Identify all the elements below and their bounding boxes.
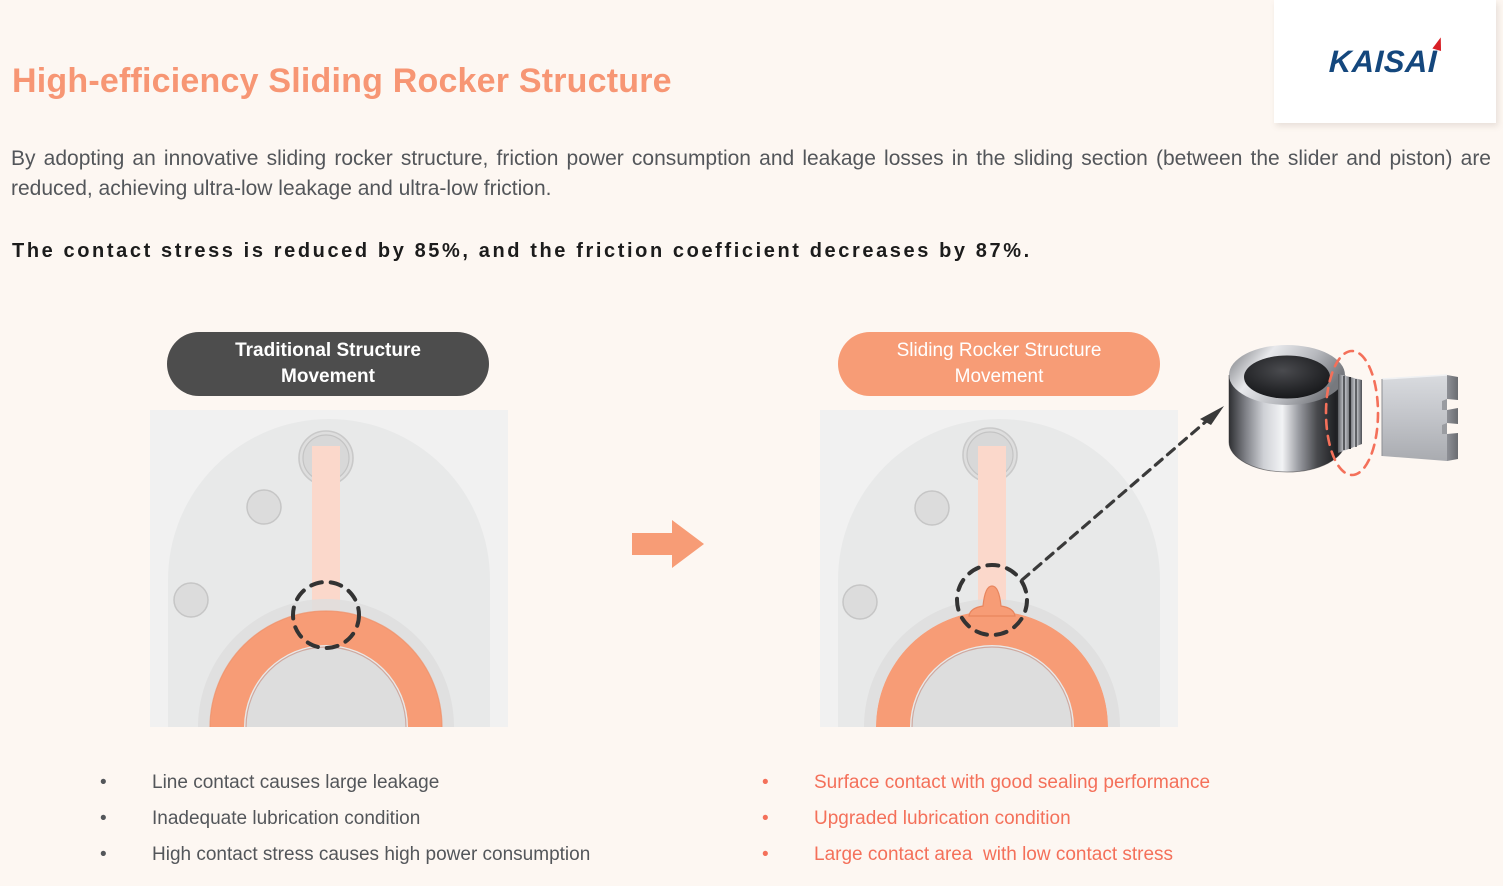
intro-paragraph: By adopting an innovative sliding rocker… [11,144,1491,204]
brand-logo: KAISAI [1274,0,1496,123]
bushing-cylinder [1229,345,1345,472]
bullet-marker-icon: • [762,837,814,873]
bullets-traditional: • Line contact causes large leakage • In… [100,765,700,873]
list-item-label: Upgraded lubrication condition [814,801,1071,837]
component-photo [1192,322,1498,510]
slide-root: KAISAI High-efficiency Sliding Rocker St… [0,0,1503,886]
label-sliding-rocker-structure-text: Sliding Rocker Structure Movement [897,338,1102,390]
bullet-marker-icon: • [100,765,152,801]
slider-plate [1382,375,1458,461]
list-item: • Line contact causes large leakage [100,765,700,801]
diagram-sliding-rocker-svg [820,410,1178,727]
list-item: • High contact stress causes high power … [100,837,700,873]
bullet-marker-icon: • [100,837,152,873]
slider-rod [312,446,340,612]
logo-accent-icon [1432,36,1444,51]
page-title: High-efficiency Sliding Rocker Structure [12,62,672,101]
highlight-statement: The contact stress is reduced by 85%, an… [12,240,1032,263]
bullet-marker-icon: • [762,765,814,801]
list-item: • Inadequate lubrication condition [100,801,700,837]
transition-arrow-icon [632,518,706,570]
list-item-label: Inadequate lubrication condition [152,801,420,837]
bullet-marker-icon: • [100,801,152,837]
list-item-label: High contact stress causes high power co… [152,837,590,873]
list-item-label: Large contact area with low contact stre… [814,837,1173,873]
diagram-traditional-svg [150,410,508,727]
logo-wordmark: KAISAI [1328,46,1437,77]
slider-rod [978,446,1006,606]
bullets-sliding-rocker: • Surface contact with good sealing perf… [762,765,1382,873]
list-item-label: Line contact causes large leakage [152,765,439,801]
diagram-sliding-rocker [820,410,1178,727]
label-traditional-structure-text: Traditional Structure Movement [235,338,421,390]
bullet-marker-icon: • [762,801,814,837]
label-sliding-rocker-structure: Sliding Rocker Structure Movement [838,332,1160,396]
list-item: • Upgraded lubrication condition [762,801,1382,837]
label-traditional-structure: Traditional Structure Movement [167,332,489,396]
list-item: • Surface contact with good sealing perf… [762,765,1382,801]
diagram-traditional [150,410,508,727]
logo-wordmark-wrap: KAISAI [1329,46,1441,77]
list-item-label: Surface contact with good sealing perfor… [814,765,1210,801]
list-item: • Large contact area with low contact st… [762,837,1382,873]
rail-groove-feature [1338,374,1362,453]
